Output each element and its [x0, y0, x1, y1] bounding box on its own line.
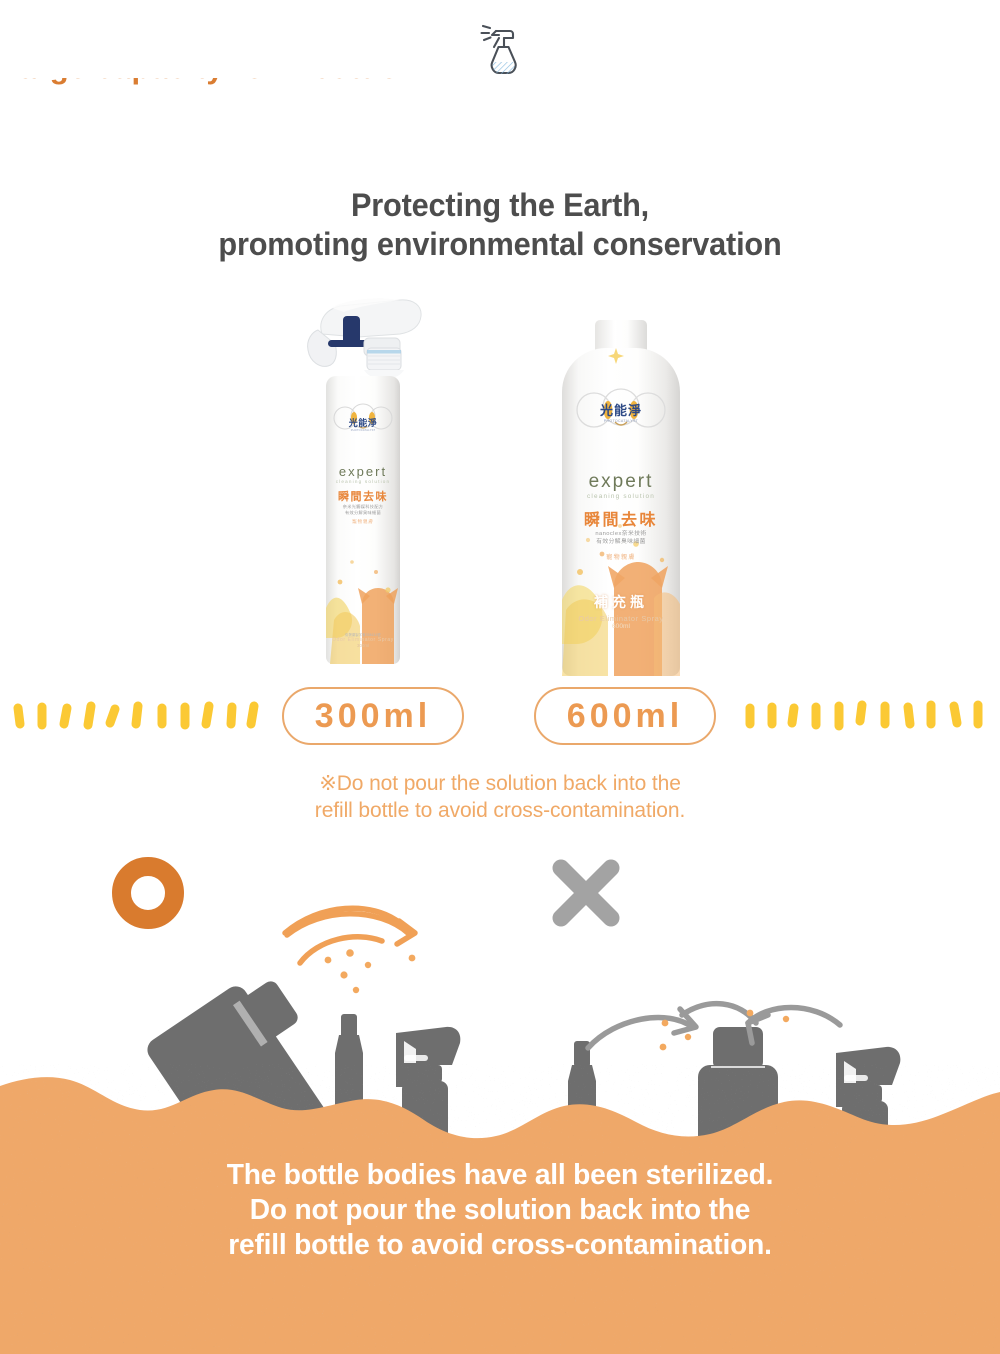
product-images: 光能淨 PHOTOCATALYST expert cleaning soluti… [0, 280, 1000, 680]
heading-line-1: Protecting the Earth, [20, 186, 980, 225]
bottom-banner: The bottle bodies have all been steriliz… [0, 1064, 1000, 1354]
banner-line-2: Do not pour the solution back into the [15, 1193, 985, 1228]
curved-headline-text: Large capacity refill bottle [0, 78, 398, 85]
dash-decoration-left [10, 690, 260, 744]
note-mark: ※ [319, 772, 337, 795]
heading-line-2: promoting environmental conservation [20, 225, 980, 264]
product-spray-300: 光能淨 PHOTOCATALYST expert cleaning soluti… [282, 288, 442, 676]
main-heading: Protecting the Earth, promoting environm… [20, 186, 980, 264]
banner-line-1: The bottle bodies have all been steriliz… [15, 1158, 985, 1193]
note-line-2: refill bottle to avoid cross-contaminati… [0, 797, 1000, 824]
warning-note: ※Do not pour the solution back into the … [0, 770, 1000, 824]
infographic-page: Large capacity refill bottle Protecting … [0, 0, 1000, 1354]
volume-badge-300-text: 300ml [315, 697, 431, 736]
dash-decoration-right [742, 690, 992, 744]
banner-line-3: refill bottle to avoid cross-contaminati… [15, 1228, 985, 1263]
bottle-300-artwork [326, 376, 400, 664]
note-line-1: Do not pour the solution back into the [337, 772, 681, 795]
bottle-600-artwork [562, 348, 680, 676]
curved-headline: Large capacity refill bottle [0, 78, 1000, 188]
volume-badge-300: 300ml [282, 687, 464, 745]
banner-text: The bottle bodies have all been steriliz… [15, 1158, 985, 1263]
volume-badge-600: 600ml [534, 687, 716, 745]
product-refill-600: 光能淨 PHOTOCATALYST expert cleaning soluti… [540, 300, 700, 680]
volume-badge-600-text: 600ml [567, 697, 683, 736]
